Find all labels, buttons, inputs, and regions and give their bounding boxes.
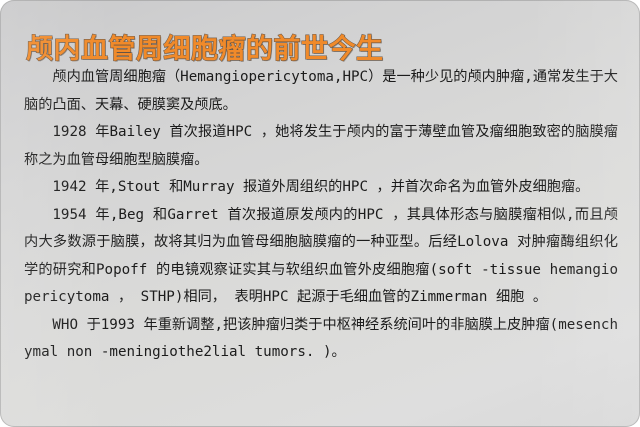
slide-title: 颅内血管周细胞瘤的前世今生 [26, 35, 384, 65]
slide-body: 颅内血管周细胞瘤（Hemangiopericytoma,HPC）是一种少见的颅内… [24, 64, 618, 367]
paragraph: 1942 年,Stout 和Murray 报道外周组织的HPC ，并首次命名为血… [24, 174, 618, 202]
paragraph: 1928 年Bailey 首次报道HPC ，她将发生于颅内的富于薄壁血管及瘤细胞… [24, 119, 618, 174]
paragraph: WHO 于1993 年重新调整,把该肿瘤归类于中枢神经系统间叶的非脑膜上皮肿瘤(… [24, 312, 618, 367]
paragraph: 1954 年,Beg 和Garret 首次报道原发颅内的HPC ，其具体形态与脑… [24, 202, 618, 312]
presentation-slide: 颅内血管周细胞瘤的前世今生 颅内血管周细胞瘤（Hemangiopericytom… [0, 0, 640, 427]
paragraph: 颅内血管周细胞瘤（Hemangiopericytoma,HPC）是一种少见的颅内… [24, 64, 618, 119]
